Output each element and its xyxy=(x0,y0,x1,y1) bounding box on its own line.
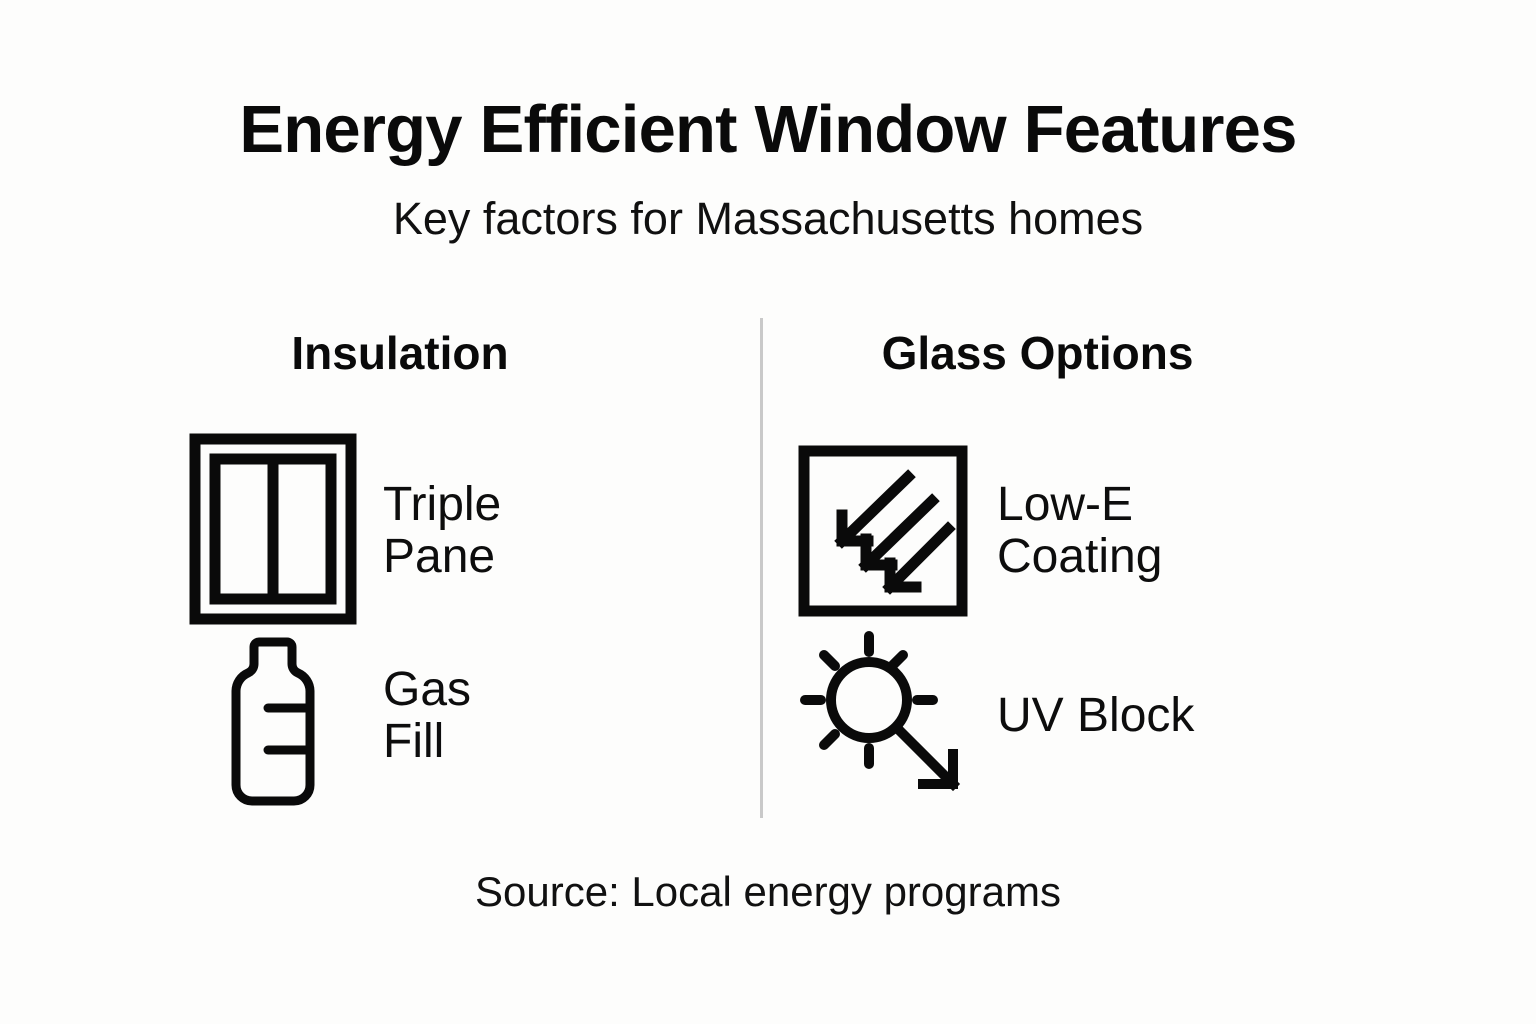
source-note: Source: Local energy programs xyxy=(0,868,1536,916)
column-divider xyxy=(760,318,763,818)
column-insulation: Insulation Triple Pane xyxy=(180,330,740,808)
list-item-label: Gas Fill xyxy=(383,664,471,768)
insulation-item-list: Triple Pane Gas Fill xyxy=(180,438,740,808)
column-heading-insulation: Insulation xyxy=(180,330,740,376)
infographic-canvas: Energy Efficient Window Features Key fac… xyxy=(0,0,1536,1024)
list-item-label: Low-E Coating xyxy=(997,479,1162,583)
low-e-coating-icon xyxy=(790,445,975,617)
window-triple-pane-icon xyxy=(180,433,365,629)
page-subtitle: Key factors for Massachusetts homes xyxy=(0,196,1536,241)
list-item: Gas Fill xyxy=(180,623,740,808)
list-item-label: UV Block xyxy=(997,690,1194,742)
column-glass-options: Glass Options xyxy=(790,330,1390,808)
column-heading-glass-options: Glass Options xyxy=(790,330,1390,376)
gas-canister-icon xyxy=(180,626,365,806)
list-item: UV Block xyxy=(790,623,1390,808)
glass-options-item-list: Low-E Coating xyxy=(790,438,1390,808)
list-item-label: Triple Pane xyxy=(383,479,501,583)
page-title: Energy Efficient Window Features xyxy=(0,96,1536,163)
list-item: Triple Pane xyxy=(180,438,740,623)
uv-block-sun-icon xyxy=(790,626,975,806)
list-item: Low-E Coating xyxy=(790,438,1390,623)
